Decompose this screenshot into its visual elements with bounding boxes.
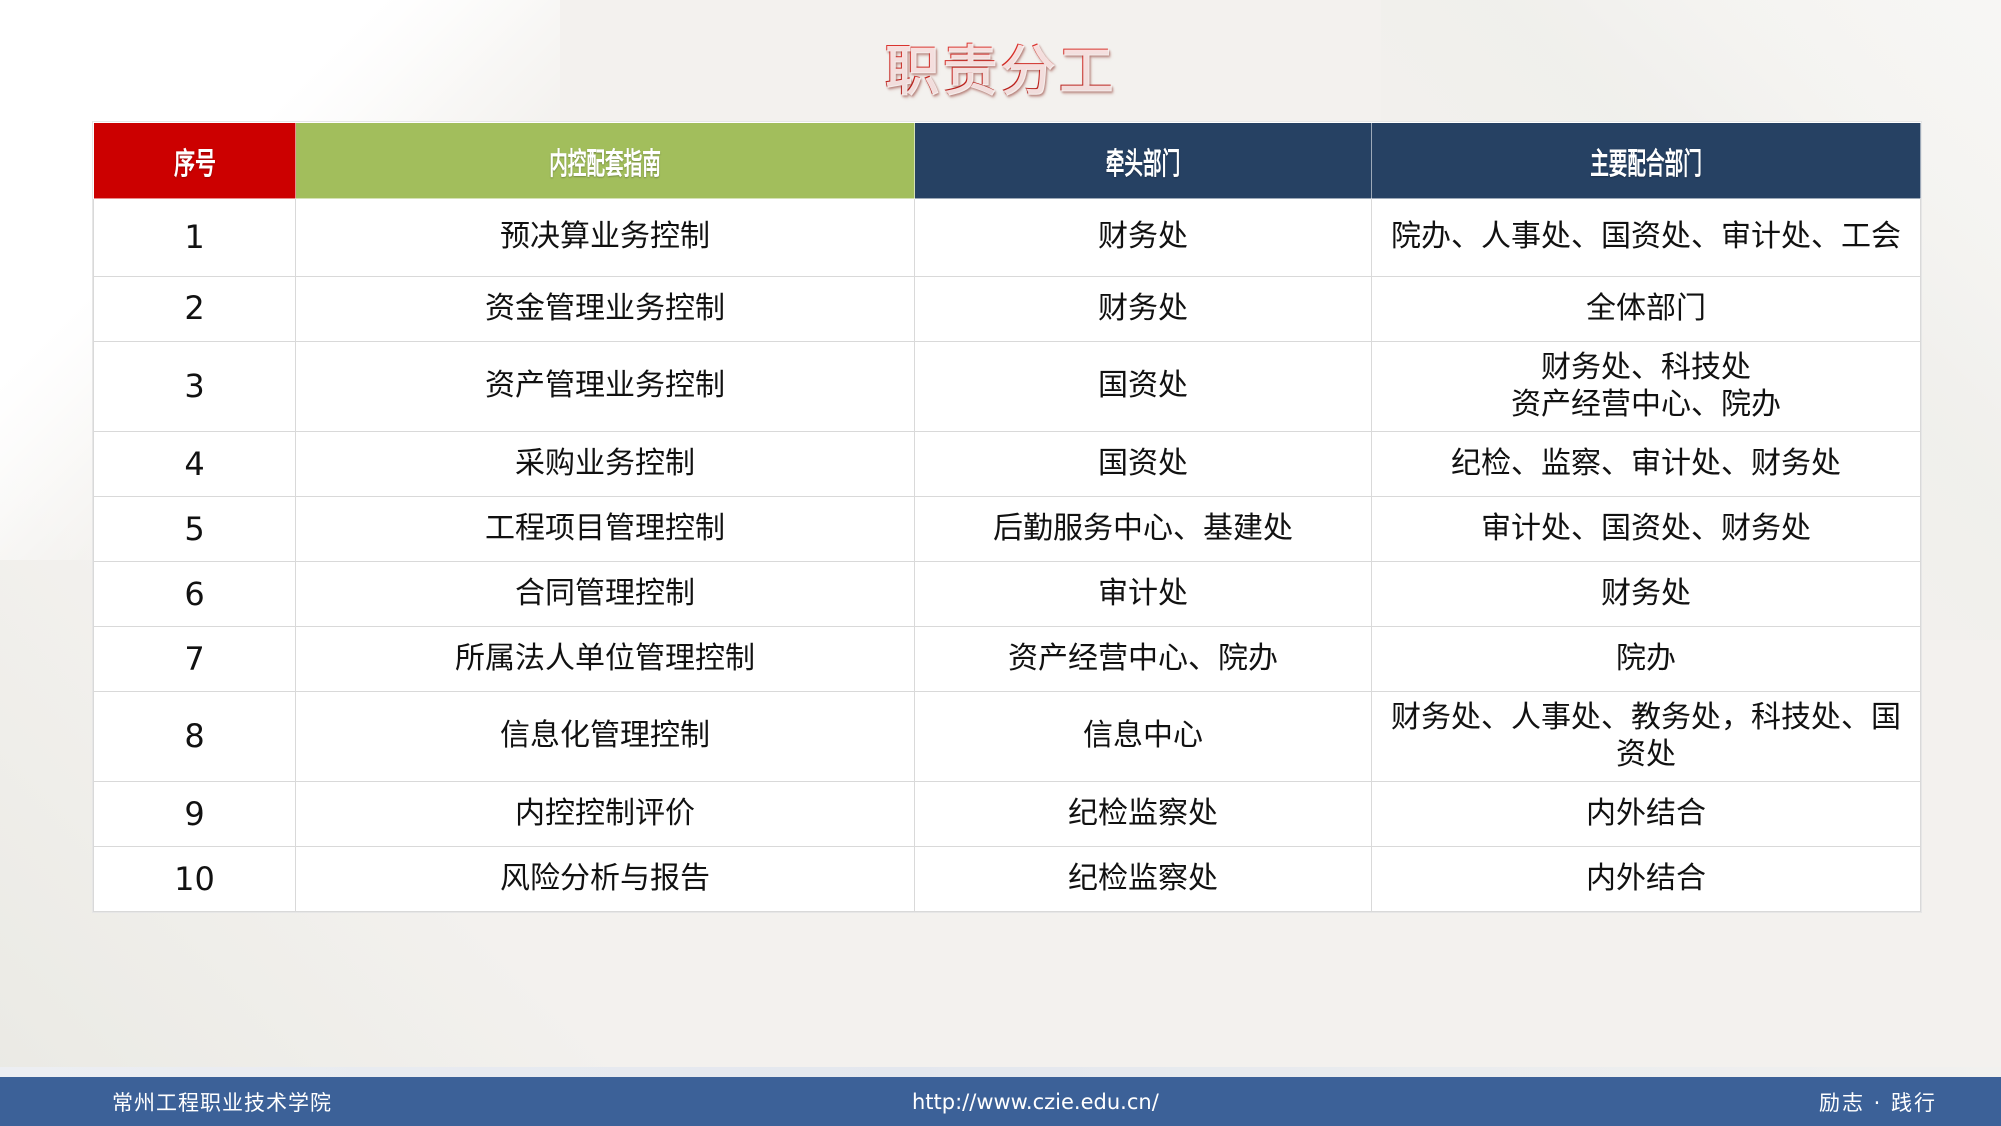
column-header-lead-label: 牵头部门 [1106,139,1180,183]
cell-guide: 采购业务控制 [296,432,915,497]
column-header-no: 序号 [94,123,296,199]
cell-coop: 院办、人事处、国资处、审计处、工会 [1372,199,1921,277]
footer-motto: 励志 · 践行 [1819,1087,1937,1117]
cell-guide: 资产管理业务控制 [296,342,915,432]
cell-lead: 审计处 [915,562,1372,627]
column-header-guide: 内控配套指南 [296,123,915,199]
table-row: 2资金管理业务控制财务处全体部门 [94,277,1921,342]
cell-no: 6 [94,562,296,627]
cell-no: 10 [94,847,296,912]
column-header-no-label: 序号 [174,139,216,183]
cell-coop: 审计处、国资处、财务处 [1372,497,1921,562]
cell-coop: 院办 [1372,627,1921,692]
cell-lead: 纪检监察处 [915,782,1372,847]
cell-no: 3 [94,342,296,432]
cell-coop: 全体部门 [1372,277,1921,342]
cell-no: 2 [94,277,296,342]
table-row: 7所属法人单位管理控制资产经营中心、院办院办 [94,627,1921,692]
cell-no: 5 [94,497,296,562]
responsibility-table: 序号 内控配套指南 牵头部门 主要配合部门 1预决算业务控制财务处院办、人事处、… [93,122,1921,912]
table-row: 9内控控制评价纪检监察处内外结合 [94,782,1921,847]
cell-lead: 后勤服务中心、基建处 [915,497,1372,562]
cell-no: 1 [94,199,296,277]
cell-coop: 纪检、监察、审计处、财务处 [1372,432,1921,497]
slide-title-wrapper: 职责分工 [0,26,2001,105]
cell-guide: 合同管理控制 [296,562,915,627]
slide-canvas: 职责分工 序号 内控配套指南 牵头部门 主要配合部门 1预决算业务控制财务处院办… [0,0,2001,1126]
column-header-guide-label: 内控配套指南 [549,139,661,183]
column-header-coop-label: 主要配合部门 [1590,139,1702,183]
column-header-coop: 主要配合部门 [1372,123,1921,199]
cell-lead: 财务处 [915,199,1372,277]
cell-guide: 预决算业务控制 [296,199,915,277]
cell-coop: 内外结合 [1372,782,1921,847]
cell-lead: 国资处 [915,342,1372,432]
cell-lead: 纪检监察处 [915,847,1372,912]
column-header-lead: 牵头部门 [915,123,1372,199]
cell-guide: 工程项目管理控制 [296,497,915,562]
table-row: 10风险分析与报告纪检监察处内外结合 [94,847,1921,912]
cell-coop: 财务处 [1372,562,1921,627]
slide-footer: 常州工程职业技术学院 http://www.czie.edu.cn/ 励志 · … [0,1077,2001,1126]
cell-guide: 资金管理业务控制 [296,277,915,342]
table-row: 1预决算业务控制财务处院办、人事处、国资处、审计处、工会 [94,199,1921,277]
cell-coop: 内外结合 [1372,847,1921,912]
table-row: 6合同管理控制审计处财务处 [94,562,1921,627]
cell-no: 4 [94,432,296,497]
table-row: 5工程项目管理控制后勤服务中心、基建处审计处、国资处、财务处 [94,497,1921,562]
cell-no: 7 [94,627,296,692]
table-header: 序号 内控配套指南 牵头部门 主要配合部门 [94,123,1921,199]
footer-institution: 常州工程职业技术学院 [112,1087,332,1117]
footer-url[interactable]: http://www.czie.edu.cn/ [912,1090,1159,1114]
table-header-row: 序号 内控配套指南 牵头部门 主要配合部门 [94,123,1921,199]
cell-guide: 风险分析与报告 [296,847,915,912]
table-row: 8信息化管理控制信息中心财务处、人事处、教务处，科技处、国资处 [94,692,1921,782]
table-body: 1预决算业务控制财务处院办、人事处、国资处、审计处、工会2资金管理业务控制财务处… [94,199,1921,912]
cell-coop: 财务处、人事处、教务处，科技处、国资处 [1372,692,1921,782]
cell-lead: 信息中心 [915,692,1372,782]
footer-top-strip [0,1067,2001,1077]
table-row: 4采购业务控制国资处纪检、监察、审计处、财务处 [94,432,1921,497]
cell-no: 9 [94,782,296,847]
cell-lead: 资产经营中心、院办 [915,627,1372,692]
page-title: 职责分工 [885,26,1117,105]
cell-coop: 财务处、科技处资产经营中心、院办 [1372,342,1921,432]
cell-guide: 所属法人单位管理控制 [296,627,915,692]
cell-lead: 财务处 [915,277,1372,342]
table-row: 3资产管理业务控制国资处财务处、科技处资产经营中心、院办 [94,342,1921,432]
cell-no: 8 [94,692,296,782]
cell-guide: 信息化管理控制 [296,692,915,782]
cell-lead: 国资处 [915,432,1372,497]
cell-guide: 内控控制评价 [296,782,915,847]
